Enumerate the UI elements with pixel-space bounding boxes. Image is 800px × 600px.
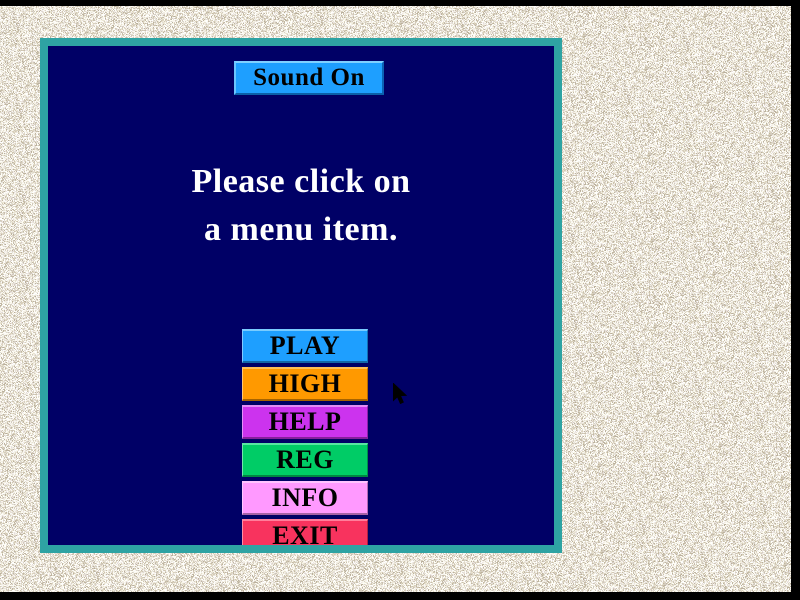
menu-button-reg[interactable]: REG xyxy=(242,443,368,477)
mouse-cursor-icon xyxy=(393,383,409,407)
panel-frame: Sound On Please click on a menu item. PL… xyxy=(40,38,562,553)
menu-panel: Sound On Please click on a menu item. PL… xyxy=(48,46,554,545)
top-black-band xyxy=(0,0,800,6)
menu-button-info[interactable]: INFO xyxy=(242,481,368,515)
prompt-text: Please click on a menu item. xyxy=(48,158,554,254)
prompt-line-2: a menu item. xyxy=(48,206,554,254)
menu-button-high[interactable]: HIGH xyxy=(242,367,368,401)
right-black-band xyxy=(791,0,800,600)
menu-button-play[interactable]: PLAY xyxy=(242,329,368,363)
menu-button-exit[interactable]: EXIT xyxy=(242,519,368,545)
main-menu: PLAYHIGHHELPREGINFOEXIT xyxy=(242,329,368,545)
prompt-line-1: Please click on xyxy=(48,158,554,206)
app-stage: Sound On Please click on a menu item. PL… xyxy=(0,0,800,600)
menu-button-help[interactable]: HELP xyxy=(242,405,368,439)
bottom-black-band xyxy=(0,592,800,600)
sound-toggle-button[interactable]: Sound On xyxy=(234,61,384,95)
